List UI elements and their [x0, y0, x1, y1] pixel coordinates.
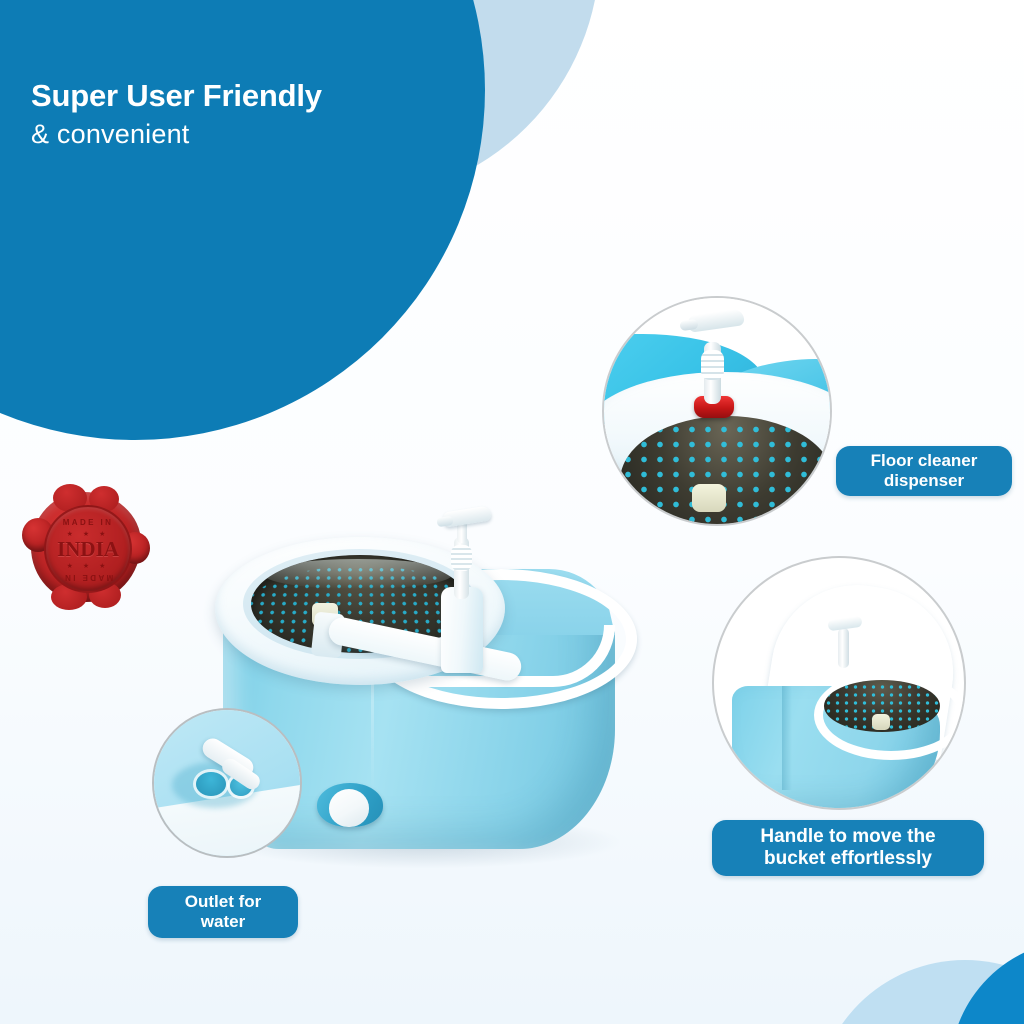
page-title: Super User Friendly: [31, 78, 322, 114]
label-line-2: bucket effortlessly: [760, 848, 935, 870]
basket-sheen: [263, 559, 453, 589]
dispenser-column: [441, 587, 483, 673]
outlet-hole-primary: [196, 772, 226, 796]
seal-disc: MADE IN ★ ★ ★ INDIA ★ ★ ★ MADE IN: [44, 505, 132, 593]
closeup-pump-body: [838, 628, 849, 668]
seal-country-name: INDIA: [46, 537, 130, 562]
header-dark-blob: [0, 0, 485, 440]
label-line-2: water: [185, 912, 262, 932]
water-outlet-cap: [329, 789, 369, 827]
closeup-spinner-basket: [620, 416, 832, 526]
closeup-pump-rings: [701, 350, 724, 380]
header-text-block: Super User Friendly & convenient: [31, 78, 322, 150]
seal-stars-bottom: ★ ★ ★: [46, 562, 130, 570]
label-handle-to-move: Handle to move the bucket effortlessly: [712, 820, 984, 876]
closeup-basket-perforations: [620, 422, 832, 526]
label-line-1: Floor cleaner: [871, 451, 978, 471]
callout-image-handle: [712, 556, 966, 810]
callout-image-water-outlet: [152, 708, 302, 858]
seal-arc-bottom-text: MADE IN: [46, 573, 130, 582]
label-line-1: Outlet for: [185, 892, 262, 912]
callout-image-floor-cleaner-dispenser: [602, 296, 832, 526]
label-line-2: dispenser: [871, 471, 978, 491]
product-infographic: Super User Friendly & convenient MADE IN…: [0, 0, 1024, 1024]
closeup-basket-knob: [872, 714, 890, 730]
seal-arc-top-text: MADE IN: [46, 518, 130, 527]
made-in-india-seal: MADE IN ★ ★ ★ INDIA ★ ★ ★ MADE IN: [26, 487, 146, 607]
label-outlet-for-water: Outlet for water: [148, 886, 298, 938]
label-line-1: Handle to move the: [760, 826, 935, 848]
label-floor-cleaner-dispenser: Floor cleaner dispenser: [836, 446, 1012, 496]
closeup-basket-knob: [692, 484, 726, 512]
pump-rings: [451, 545, 472, 571]
page-subtitle: & convenient: [31, 118, 322, 150]
closeup-bucket-divider: [782, 686, 792, 790]
